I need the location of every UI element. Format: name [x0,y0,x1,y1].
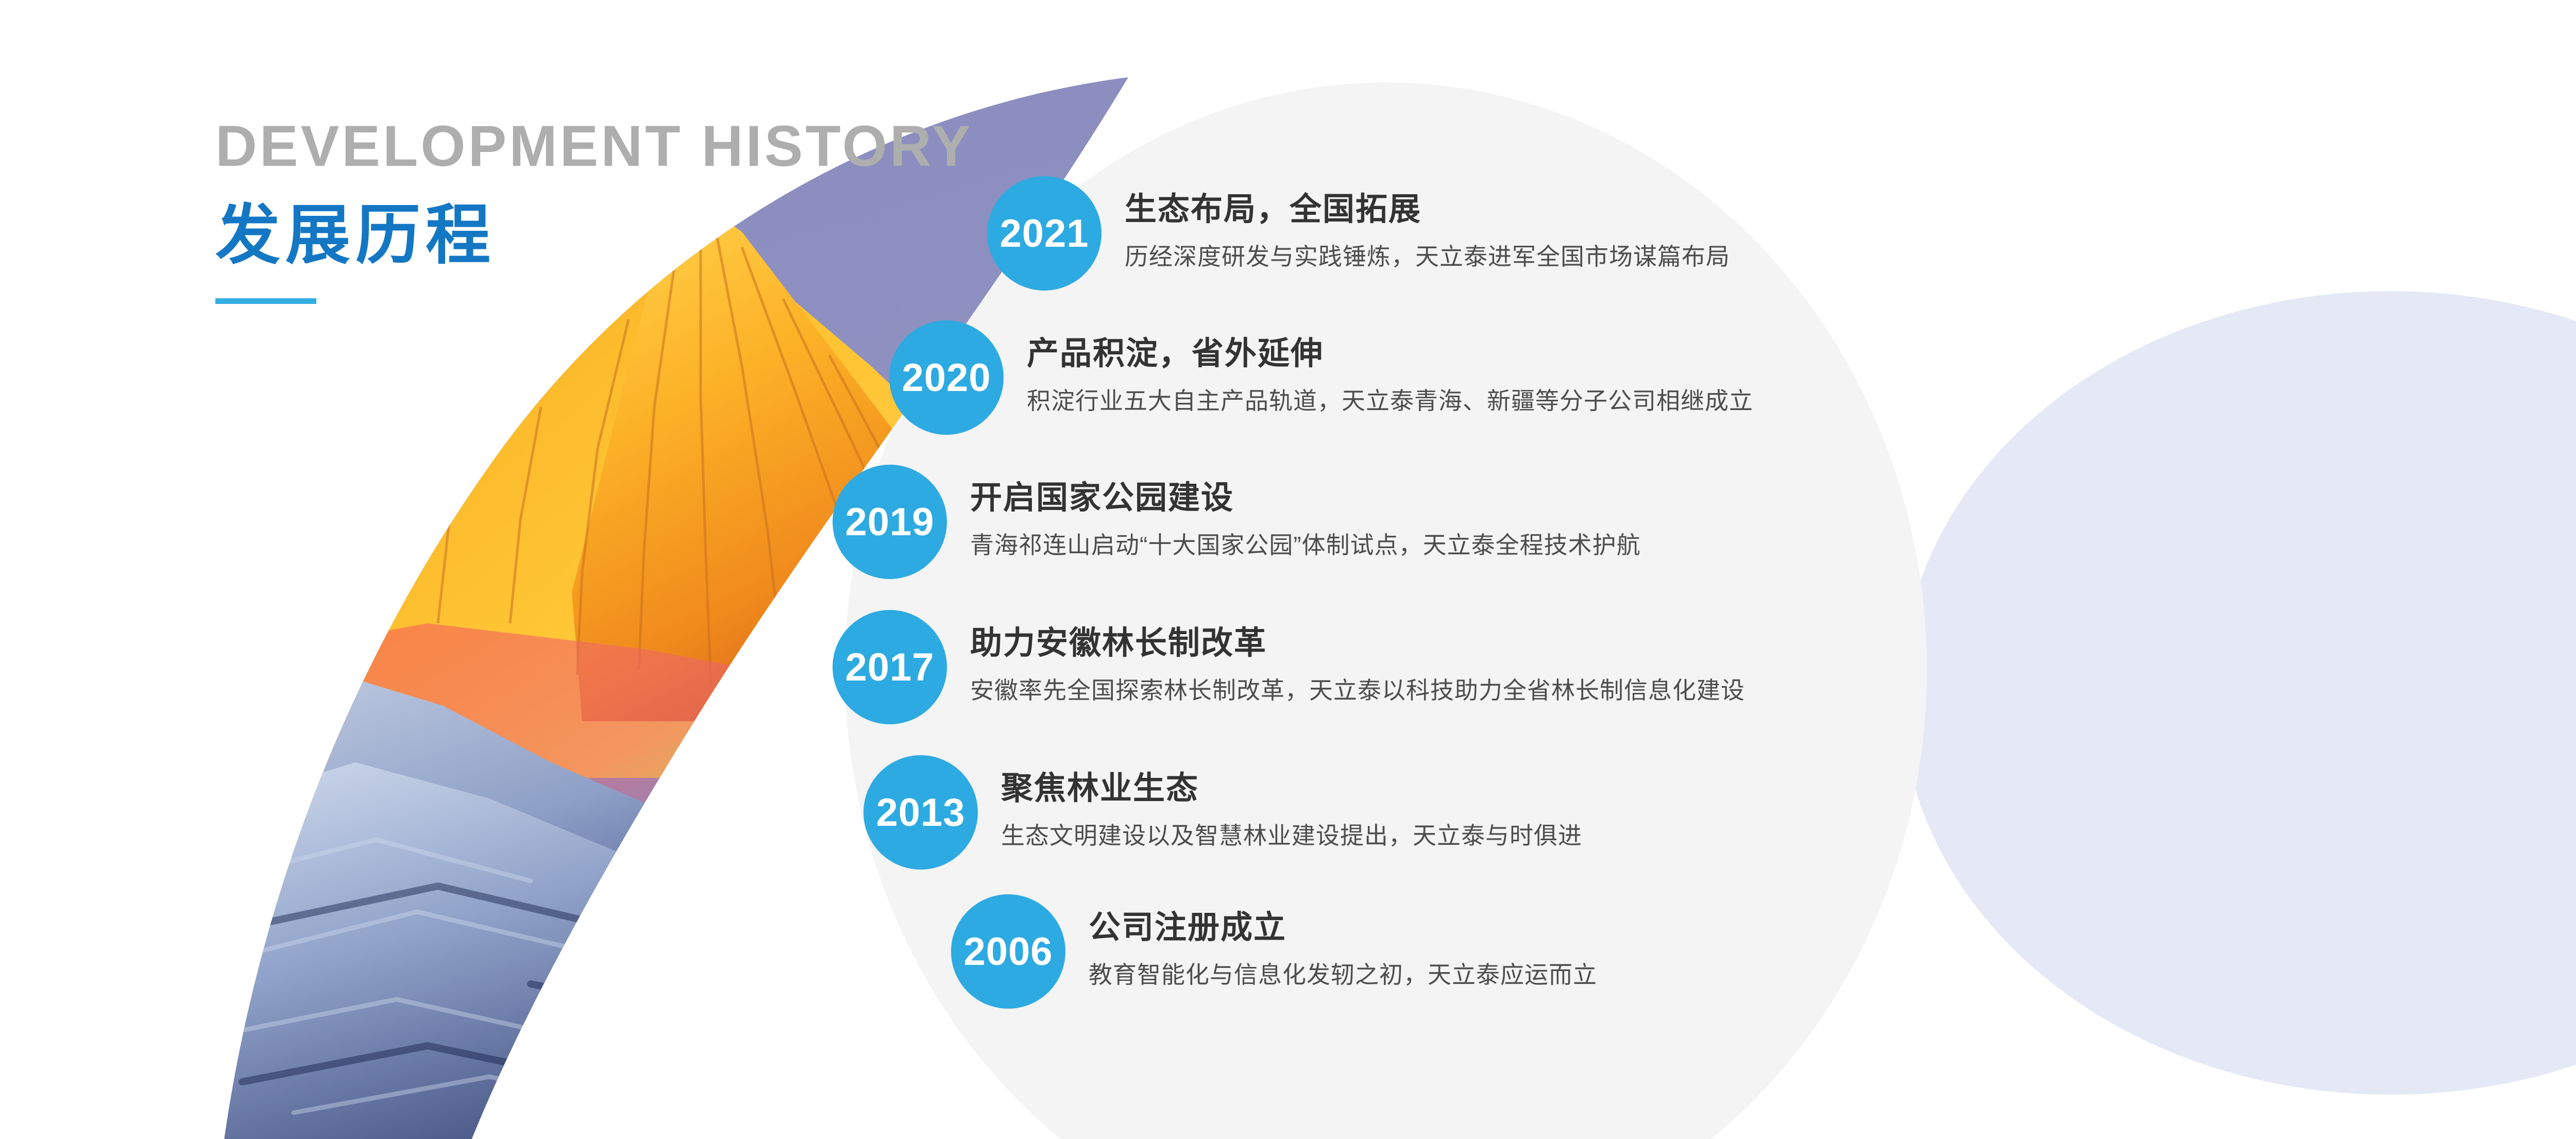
slogan: 立天地 共赢科技未来 [2081,268,2576,911]
timeline-text: 聚焦林业生态 生态文明建设以及智慧林业建设提出，天立泰与时俱进 [1001,770,1582,852]
timeline-desc: 历经深度研发与实践锤炼，天立泰进军全国市场谋篇布局 [1125,242,1730,273]
timeline-desc: 生态文明建设以及智慧林业建设提出，天立泰与时俱进 [1001,821,1582,852]
year-badge[interactable]: 2020 [889,320,1004,435]
timeline-title: 助力安徽林长制改革 [970,624,1745,662]
year-badge[interactable]: 2017 [833,610,947,724]
timeline-text: 开启国家公园建设 青海祁连山启动“十大国家公园”体制试点，天立泰全程技术护航 [970,479,1641,561]
year-badge[interactable]: 2019 [833,465,947,579]
timeline-desc: 青海祁连山启动“十大国家公园”体制试点，天立泰全程技术护航 [970,530,1641,561]
timeline-desc: 安徽率先全国探索林长制改革，天立泰以科技助力全省林长制信息化建设 [970,675,1745,706]
timeline-text: 公司注册成立 教育智能化与信息化发轫之初，天立泰应运而立 [1089,909,1597,991]
timeline-desc: 教育智能化与信息化发轫之初，天立泰应运而立 [1089,960,1597,991]
timeline-text: 产品积淀，省外延伸 积淀行业五大自主产品轨道，天立泰青海、新疆等分子公司相继成立 [1027,335,1753,417]
timeline-text: 生态布局，全国拓展 历经深度研发与实践锤炼，天立泰进军全国市场谋篇布局 [1125,191,1730,273]
slide-canvas: DEVELOPMENT HISTORY 发展历程 2021 生态布局，全国拓展 … [0,0,2576,1139]
timeline-text: 助力安徽林长制改革 安徽率先全国探索林长制改革，天立泰以科技助力全省林长制信息化… [970,624,1745,706]
timeline-title: 公司注册成立 [1089,909,1597,946]
year-badge[interactable]: 2013 [863,755,978,870]
timeline-title: 产品积淀，省外延伸 [1027,335,1753,372]
year-badge[interactable]: 2006 [951,894,1065,1009]
timeline-title: 开启国家公园建设 [970,479,1641,517]
timeline-desc: 积淀行业五大自主产品轨道，天立泰青海、新疆等分子公司相继成立 [1027,386,1753,417]
timeline-title: 聚焦林业生态 [1001,770,1582,807]
timeline-title: 生态布局，全国拓展 [1125,191,1730,228]
year-badge[interactable]: 2021 [987,176,1101,291]
